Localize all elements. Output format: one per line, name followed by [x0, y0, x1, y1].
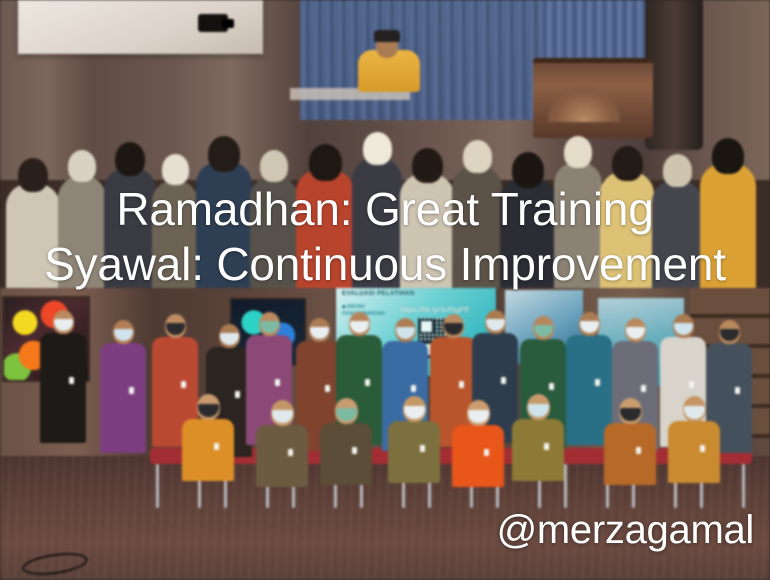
camera-lens-icon [222, 19, 234, 28]
audience-person-body [652, 180, 702, 290]
id-badge [214, 443, 219, 450]
audience-person-head [363, 132, 392, 165]
id-badge [700, 445, 705, 452]
id-badge [689, 381, 694, 388]
audience-person-head [612, 146, 643, 181]
id-badge [352, 447, 357, 454]
audience-person-body [58, 176, 106, 290]
id-badge [69, 377, 74, 384]
audience-person-head [412, 148, 443, 183]
audience-person-head [115, 142, 145, 176]
seated-person-body [388, 421, 440, 483]
id-badge [735, 387, 740, 394]
audience-person-body [600, 172, 654, 290]
audience-person-head [564, 136, 592, 168]
audience-person-body [554, 162, 602, 290]
speaker-peci-cap [374, 30, 400, 42]
audience-person-head [512, 152, 544, 188]
chair-leg [156, 464, 159, 508]
id-badge [544, 443, 549, 450]
seated-person-body [182, 419, 234, 481]
audience-person-head [18, 158, 48, 192]
id-badge [129, 387, 134, 394]
top-photo-lecture-hall [0, 0, 770, 290]
seated-person-body [668, 421, 720, 483]
id-badge [288, 449, 293, 456]
id-badge [484, 449, 489, 456]
seated-person-body [256, 425, 308, 487]
chair-leg [564, 464, 567, 508]
audience-person-head [712, 138, 744, 174]
seated-person-body [512, 419, 564, 481]
audience-person-body [400, 174, 454, 290]
audience-person-body [352, 158, 402, 290]
id-badge [549, 383, 554, 390]
id-badge [636, 447, 641, 454]
audience-person-head [463, 140, 492, 173]
id-badge [501, 377, 506, 384]
seated-person-body [604, 423, 656, 485]
audience-person-body [152, 180, 198, 290]
audience-person-body [500, 178, 556, 290]
audience-person-body [104, 168, 156, 290]
audience-person-body [700, 164, 756, 290]
presentation-url: https://bit.ly/3ufSgPE [400, 305, 470, 314]
id-badge [411, 385, 416, 392]
audience-person-head [309, 144, 342, 181]
id-badge [365, 379, 370, 386]
audience-person-body [6, 184, 60, 290]
standing-person-body [40, 333, 86, 443]
watermark-handle: @merzagamal [497, 508, 754, 552]
id-badge [420, 445, 425, 452]
audience-person-body [452, 166, 502, 290]
audience-person-head [68, 150, 96, 182]
audience-person-head [208, 136, 240, 172]
id-badge [235, 391, 240, 398]
audience-person-body [296, 170, 354, 290]
id-badge [325, 385, 330, 392]
id-badge [595, 379, 600, 386]
audience-person-body [196, 162, 252, 290]
id-badge [275, 379, 280, 386]
id-badge [459, 381, 464, 388]
seated-person-body [320, 423, 372, 485]
audience-crowd [0, 92, 770, 290]
presentation-heading: EVALUASI PELATIHAN [342, 291, 415, 297]
poster-image: EVALUASI PELATIHAN ◆ BADANPENGEMBANGAN h… [0, 0, 770, 580]
audience-person-head [260, 150, 288, 182]
seated-person-body [452, 425, 504, 487]
audience-person-head [162, 154, 189, 185]
standing-person-body [100, 343, 146, 453]
chair-leg [742, 464, 745, 508]
audience-person-body [250, 176, 298, 290]
audience-person-head [663, 154, 692, 187]
id-badge [641, 385, 646, 392]
id-badge [181, 381, 186, 388]
